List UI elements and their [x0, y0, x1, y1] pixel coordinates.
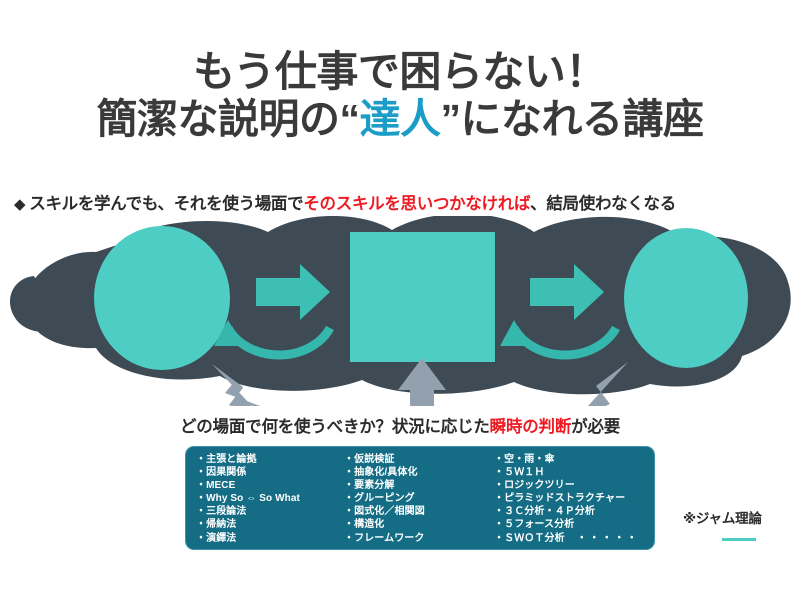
lead-sentence: ◆スキルを学んでも、それを使う場面でそのスキルを思いつかなければ、結局使わなくな…: [14, 190, 794, 214]
method-item-label: ＳＷＯＴ分析: [504, 533, 565, 544]
method-item: 要素分解: [344, 479, 494, 492]
lead-text-before: スキルを学んでも、それを使う場面で: [29, 195, 303, 213]
method-item: ロジックツリー: [494, 479, 654, 492]
method-item: 空・雨・傘: [494, 453, 654, 466]
methods-column-2: 仮説検証 抽象化/具体化 要素分解 グルーピング 図式化／相関図 構造化 フレー…: [344, 453, 494, 543]
method-item: 因果関係: [196, 466, 344, 479]
methods-list-box: 主張と論拠 因果関係 MECE Why So ⇔ So What 三段論法 帰納…: [185, 446, 655, 550]
method-item: 抽象化/具体化: [344, 466, 494, 479]
node-output-title: OUTPUT: [647, 480, 727, 501]
node-process-shape: [350, 232, 495, 362]
method-item: ５Ｗ１Ｈ: [494, 466, 654, 479]
title-accent-text: 達人: [360, 96, 441, 142]
title-line-2: 簡潔な説明の“達人”になれる講座: [0, 97, 800, 143]
method-item: フレームワーク: [344, 532, 494, 545]
node-output-shape: [624, 228, 748, 368]
method-item-last: ＳＷＯＴ分析・・・・・: [494, 532, 654, 545]
caption-text-highlight: 瞬時の判断: [490, 418, 572, 436]
node-input-title: INPUT: [133, 480, 192, 501]
slide-canvas: もう仕事で困らない！ 簡潔な説明の“達人”になれる講座 ◆スキルを学んでも、それ…: [0, 0, 800, 600]
caption-text-after: が必要: [571, 418, 620, 436]
process-diagram: INPUT (入力) PROCESS （思考） OUTPUT (出力): [0, 216, 800, 406]
method-item: 図式化／相関図: [344, 505, 494, 518]
diamond-bullet-icon: ◆: [14, 196, 25, 213]
footnote-underline: [722, 538, 756, 541]
method-item: 仮説検証: [344, 453, 494, 466]
trailing-dots: ・・・・・: [565, 533, 640, 544]
page-title: もう仕事で困らない！ 簡潔な説明の“達人”になれる講座: [0, 48, 800, 143]
method-item: MECE: [196, 479, 344, 492]
diagram-caption: どの場面で何を使うべきか？状況に応じた瞬時の判断が必要: [0, 413, 800, 437]
method-item: グルーピング: [344, 492, 494, 505]
method-item: 帰納法: [196, 518, 344, 531]
methods-column-3: 空・雨・傘 ５Ｗ１Ｈ ロジックツリー ピラミッドストラクチャー ３Ｃ分析・４Ｐ分…: [494, 453, 654, 543]
method-item: 演繹法: [196, 532, 344, 545]
methods-column-1: 主張と論拠 因果関係 MECE Why So ⇔ So What 三段論法 帰納…: [196, 453, 344, 543]
title-line-2-prefix: 簡潔な説明の“: [97, 96, 360, 142]
method-item: Why So ⇔ So What: [196, 492, 344, 505]
title-line-1: もう仕事で困らない！: [0, 48, 800, 95]
method-item: ピラミッドストラクチャー: [494, 492, 654, 505]
method-item: ５フォース分析: [494, 518, 654, 531]
node-input-shape: [94, 226, 230, 370]
method-item: 三段論法: [196, 505, 344, 518]
lead-text-after: 、結局使わなくなる: [530, 195, 676, 213]
method-item: 主張と論拠: [196, 453, 344, 466]
method-item: ３Ｃ分析・４Ｐ分析: [494, 505, 654, 518]
lead-text-highlight: そのスキルを思いつかなければ: [303, 195, 530, 213]
title-line-2-suffix: ”になれる講座: [441, 96, 704, 142]
footnote-text: ※ジャム理論: [683, 507, 762, 527]
caption-text-before: どの場面で何を使うべきか？状況に応じた: [180, 418, 490, 436]
method-item: 構造化: [344, 518, 494, 531]
